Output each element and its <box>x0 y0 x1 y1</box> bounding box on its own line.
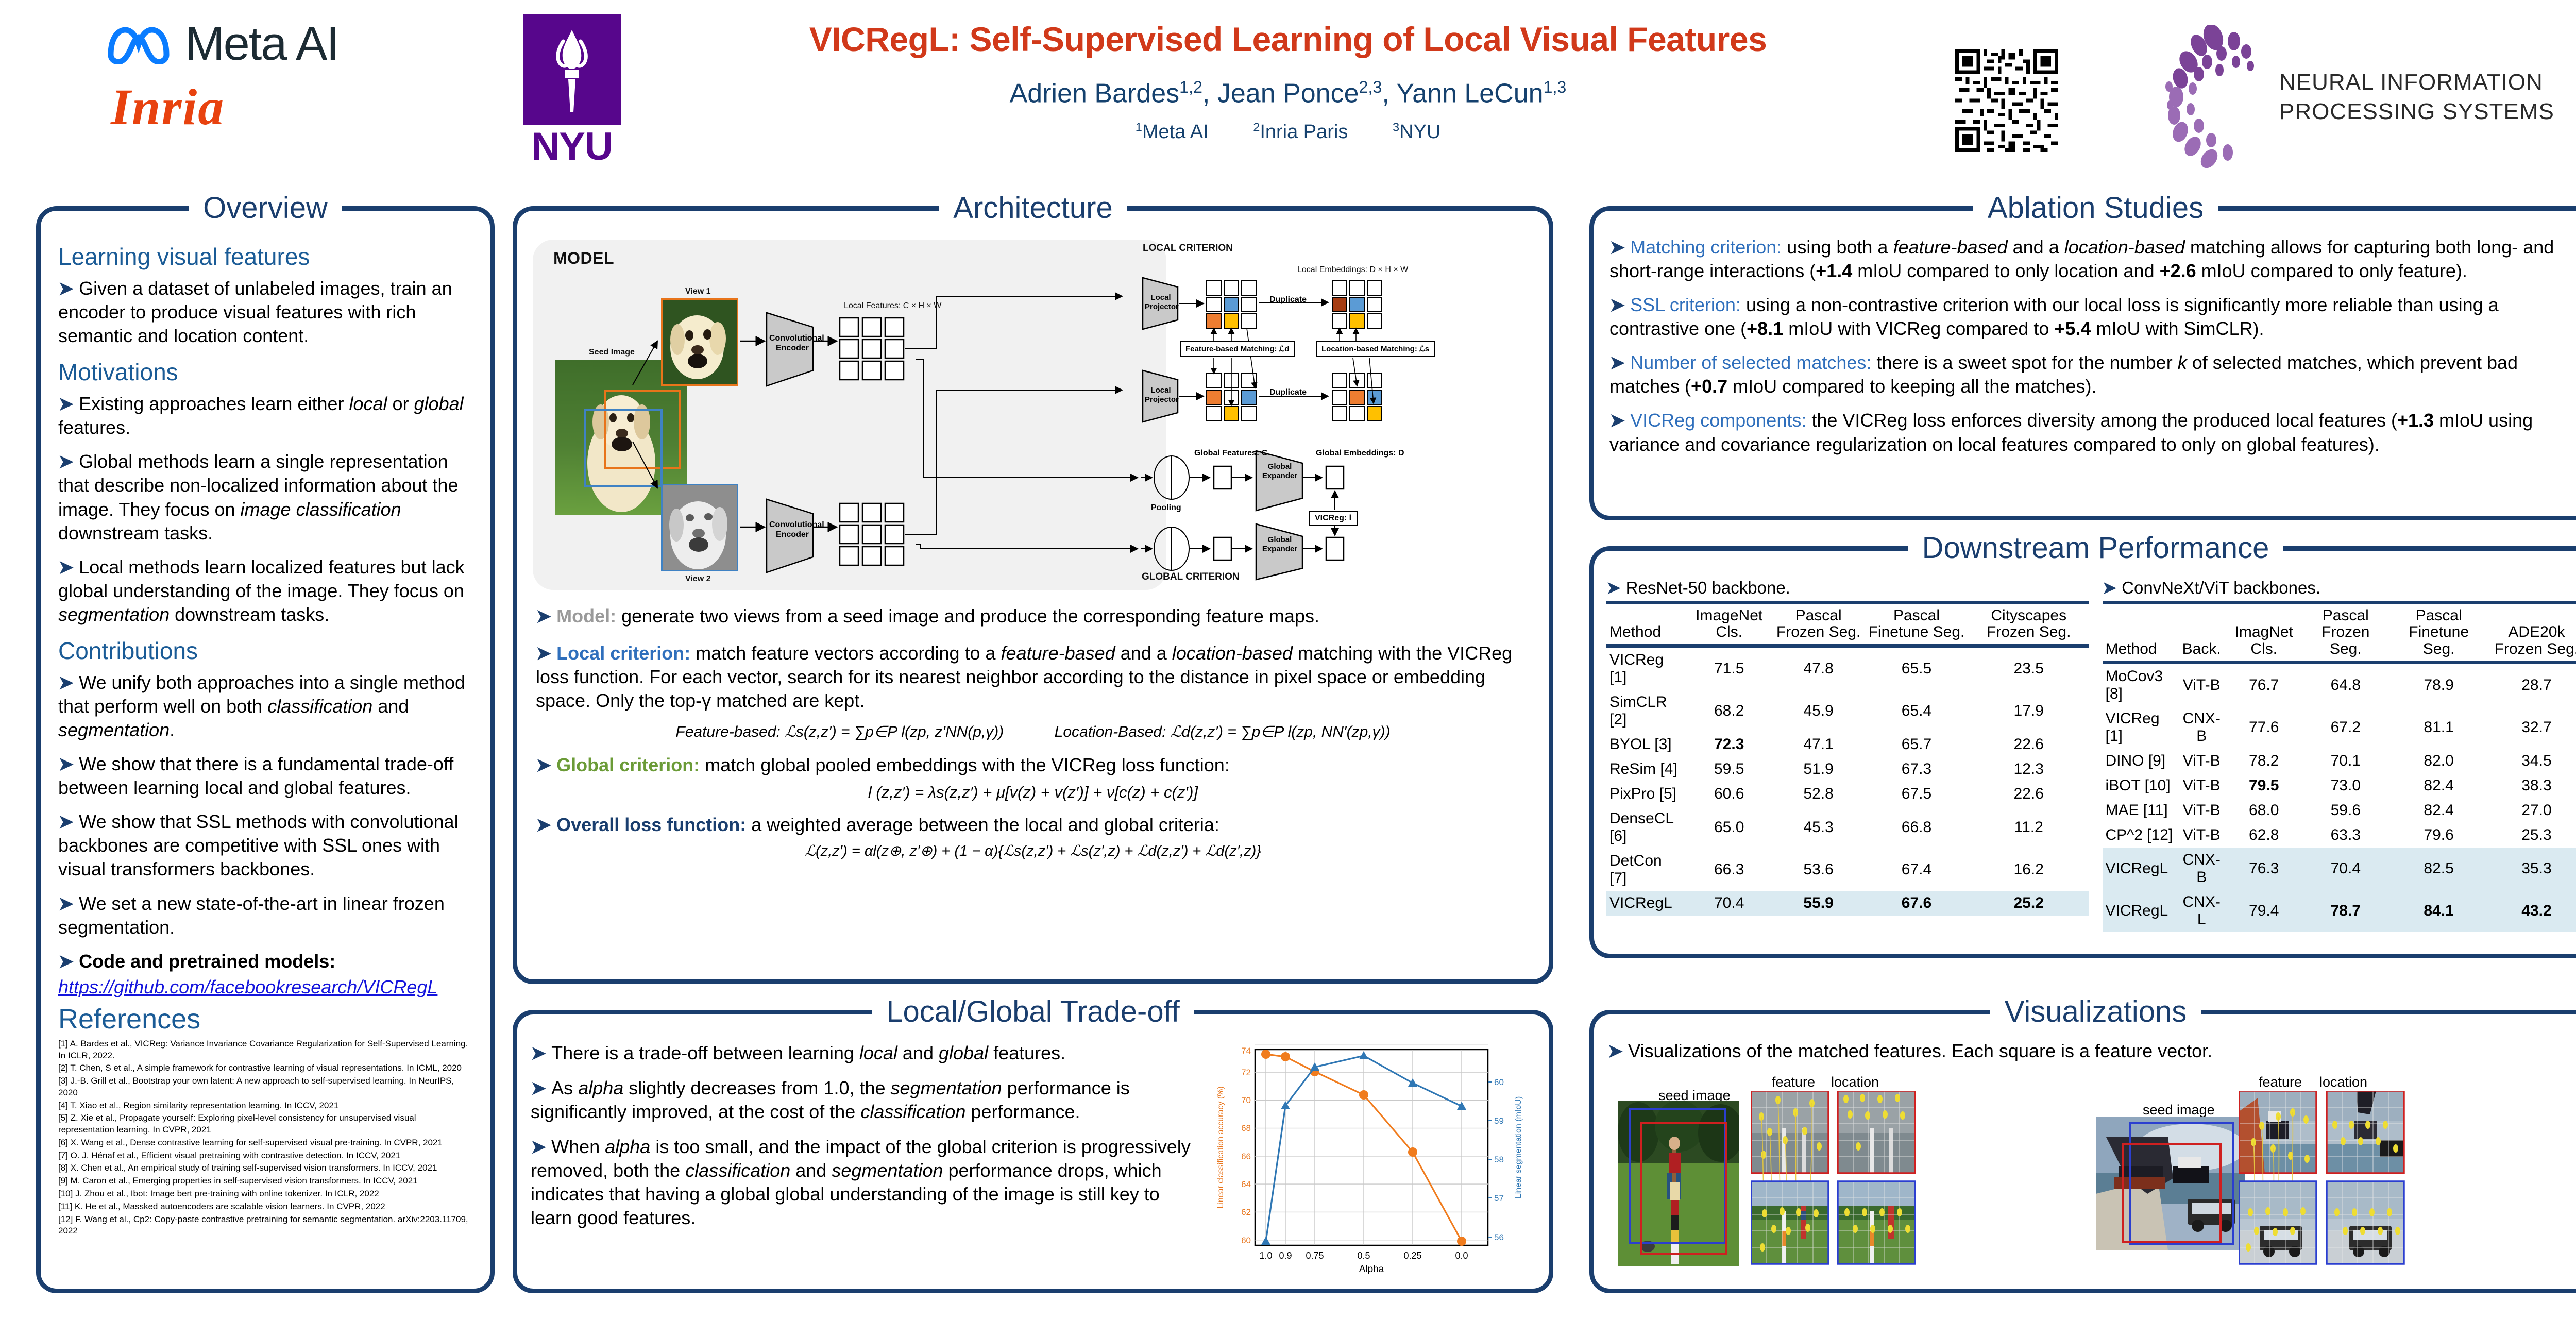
meta-infinity-icon <box>106 24 172 64</box>
svg-text:1.0: 1.0 <box>1259 1250 1272 1261</box>
cell-method: MoCov3 [8] <box>2103 663 2178 707</box>
cell-value: 25.2 <box>1969 891 2089 916</box>
architecture-bullets: ➤Model: generate two views from a seed i… <box>524 596 1541 860</box>
cell-method: VICRegL <box>2103 890 2178 932</box>
table-row: DenseCL [6] 65.0 45.3 66.8 11.2 <box>1606 806 2089 849</box>
tradeoff-chart: 60 62 64 66 68 70 72 74 Linear classific… <box>1206 1041 1535 1283</box>
bullet-arrow-icon: ➤ <box>58 753 74 774</box>
col-header: Pascal Finetune Seg. <box>2389 603 2488 663</box>
bullet-arrow-icon: ➤ <box>531 1136 546 1157</box>
cell-method: DenseCL [6] <box>1606 806 1686 849</box>
meta-ai-logo: Meta AI <box>106 15 466 72</box>
cell-backbone: CNX-B <box>2177 848 2226 890</box>
cell-value: 12.3 <box>1969 757 2089 782</box>
svg-text:62: 62 <box>1241 1207 1251 1217</box>
overview-text-contribution-3: ➤We show that SSL methods with convoluti… <box>58 810 472 881</box>
reference-item: [7] O. J. Hénaf et al., Efficient visual… <box>58 1150 472 1162</box>
cell-value: 70.4 <box>2302 848 2389 890</box>
cell-value: 70.4 <box>1686 891 1772 916</box>
cell-value: 22.6 <box>1969 782 2089 806</box>
diagram-encoder-label-1: Convolutional Encoder <box>769 333 816 353</box>
neurips-line-1: NEURAL INFORMATION <box>2279 67 2554 97</box>
alpha-tradeoff-chart: 60 62 64 66 68 70 72 74 Linear classific… <box>1206 1041 1535 1283</box>
table-row: ReSim [4] 59.5 51.9 67.3 12.3 <box>1606 757 2089 782</box>
cell-value: 79.6 <box>2389 823 2488 848</box>
reference-item: [12] F. Wang et al., Cp2: Copy-paste con… <box>58 1214 472 1238</box>
cell-value: 59.5 <box>1686 757 1772 782</box>
col-header: Pascal Finetune Seg. <box>1865 603 1969 646</box>
chart-y2label: Linear segmentation (mIoU) <box>1514 1096 1523 1198</box>
panel-architecture: Architecture MODEL Seed Image <box>513 206 1553 984</box>
affiliation-3: 3NYU <box>1393 121 1440 143</box>
table-row: BYOL [3] 72.3 47.1 65.7 22.6 <box>1606 732 2089 757</box>
cell-backbone: CNX-L <box>2177 890 2226 932</box>
viz2-feature-location-grids <box>2239 1091 2414 1266</box>
table-row: iBOT [10] ViT-B 79.5 73.0 82.4 38.3 <box>2103 773 2576 798</box>
bullet-arrow-icon: ➤ <box>536 754 551 775</box>
cell-backbone: ViT-B <box>2177 773 2226 798</box>
equation-location-based: Location-Based: ℒd(z,z′) = ∑p∈P l(zp, NN… <box>1055 723 1391 740</box>
cell-method: PixPro [5] <box>1606 782 1686 806</box>
cell-backbone: ViT-B <box>2177 798 2226 823</box>
neurips-logo: NEURAL INFORMATION PROCESSING SYSTEMS <box>2154 20 2576 174</box>
table-row: MAE [11] ViT-B 68.0 59.6 82.4 27.0 <box>2103 798 2576 823</box>
cell-value: 68.0 <box>2226 798 2302 823</box>
col-header: ImagNet Cls. <box>2226 603 2302 663</box>
cell-value: 27.0 <box>2488 798 2576 823</box>
cell-method: VICReg [1] <box>2103 706 2178 749</box>
cell-method: BYOL [3] <box>1606 732 1686 757</box>
col-header: Back. <box>2177 603 2226 663</box>
bullet-arrow-icon: ➤ <box>1609 352 1625 373</box>
diagram-vicreg-box: VICReg: l <box>1309 511 1358 526</box>
architecture-diagram: MODEL Seed Image <box>524 235 1541 596</box>
cell-value: 45.9 <box>1772 690 1865 732</box>
cell-backbone: ViT-B <box>2177 823 2226 848</box>
neurips-line-2: PROCESSING SYSTEMS <box>2279 97 2554 126</box>
visualization-group-2: seed image feature location <box>2089 1076 2552 1272</box>
ablation-bullet-matches: ➤Number of selected matches: there is a … <box>1609 351 2576 398</box>
poster-header: Meta AI Inria NYU VICRegL: Self-Supervis… <box>0 0 2576 191</box>
cell-value: 63.3 <box>2302 823 2389 848</box>
svg-text:70: 70 <box>1241 1095 1251 1105</box>
neurips-swirl-icon <box>2154 25 2267 169</box>
tradeoff-content: ➤There is a trade-off between learning l… <box>517 1014 1549 1289</box>
cell-method: VICReg [1] <box>1606 646 1686 690</box>
convnext-table-block: ➤ConvNeXt/ViT backbones. Method Back. Im… <box>2103 578 2576 949</box>
diagram-local-criterion-label: LOCAL CRITERION <box>1143 243 1233 254</box>
viz2-seed-label: seed image <box>2143 1102 2215 1118</box>
overview-text-motivation-3: ➤Local methods learn localized features … <box>58 555 472 627</box>
visualizations-caption: ➤Visualizations of the matched features.… <box>1607 1039 2576 1063</box>
inria-logo: Inria <box>111 77 440 144</box>
overview-heading-motivations: Motivations <box>58 358 472 386</box>
cell-value: 77.6 <box>2226 706 2302 749</box>
nyu-torch-box <box>523 14 621 125</box>
cell-value: 67.2 <box>2302 706 2389 749</box>
nyu-wordmark: NYU <box>507 127 636 166</box>
bullet-arrow-icon: ➤ <box>1609 410 1625 431</box>
overview-text-contribution-1: ➤We unify both approaches into a single … <box>58 671 472 742</box>
svg-text:0.9: 0.9 <box>1279 1250 1292 1261</box>
bullet-arrow-icon: ➤ <box>531 1077 546 1098</box>
cell-value: 73.0 <box>2302 773 2389 798</box>
svg-text:0.0: 0.0 <box>1455 1250 1468 1261</box>
poster-root: Meta AI Inria NYU VICRegL: Self-Supervis… <box>0 0 2576 1319</box>
resnet50-performance-table: Method ImageNet Cls. Pascal Frozen Seg. … <box>1606 601 2089 916</box>
cell-value: 16.2 <box>1969 849 2089 891</box>
bullet-arrow-icon: ➤ <box>58 278 74 299</box>
cell-value: 11.2 <box>1969 806 2089 849</box>
overview-text-learning: ➤Given a dataset of unlabeled images, tr… <box>58 277 472 348</box>
bullet-arrow-icon: ➤ <box>58 672 74 693</box>
svg-text:0.25: 0.25 <box>1403 1250 1421 1261</box>
cell-value: 62.8 <box>2226 823 2302 848</box>
cell-value: 82.4 <box>2389 798 2488 823</box>
cell-value: 71.5 <box>1686 646 1772 690</box>
cell-value: 67.3 <box>1865 757 1969 782</box>
viz1-seed-photo <box>1618 1101 1739 1266</box>
overview-code-label: ➤Code and pretrained models: <box>58 950 472 973</box>
arch-equation-vicreg: l (z,z′) = λs(z,z′) + μ[v(z) + v(z′)] + … <box>536 783 1530 802</box>
svg-text:66: 66 <box>1241 1152 1251 1161</box>
cell-value: 84.1 <box>2389 890 2488 932</box>
cell-value: 79.5 <box>2226 773 2302 798</box>
cell-value: 65.4 <box>1865 690 1969 732</box>
svg-text:56: 56 <box>1494 1232 1504 1242</box>
overview-heading-contributions: Contributions <box>58 637 472 665</box>
cell-value: 81.1 <box>2389 706 2488 749</box>
bullet-arrow-icon: ➤ <box>536 605 551 627</box>
cell-value: 64.8 <box>2302 663 2389 707</box>
svg-text:57: 57 <box>1494 1193 1504 1203</box>
overview-content: Learning visual features ➤Given a datase… <box>41 211 490 1289</box>
diagram-global-features-label: Global Features: C <box>1194 449 1267 458</box>
chart-ylabel: Linear classification accuracy (%) <box>1216 1086 1225 1208</box>
arch-equation-overall: ℒ(z,z′) = αl(z⊕, z′⊕) + (1 − α){ℒs(z,z′)… <box>536 842 1530 860</box>
authors-line: Adrien Bardes1,2, Jean Ponce2,3, Yann Le… <box>680 78 1896 109</box>
table-row: VICReg [1] 71.5 47.8 65.5 23.5 <box>1606 646 2089 690</box>
title-block: VICRegL: Self-Supervised Learning of Loc… <box>680 21 1896 143</box>
reference-item: [3] J.-B. Grill et al., Bootstrap your o… <box>58 1075 472 1099</box>
cell-value: 68.2 <box>1686 690 1772 732</box>
cell-method: SimCLR [2] <box>1606 690 1686 732</box>
svg-text:68: 68 <box>1241 1123 1251 1133</box>
tradeoff-bullets: ➤There is a trade-off between learning l… <box>531 1041 1200 1283</box>
cell-value: 32.7 <box>2488 706 2576 749</box>
cell-value: 47.8 <box>1772 646 1865 690</box>
viz2-seed-photo <box>2096 1117 2245 1250</box>
col-header: Pascal Frozen Seg. <box>2302 603 2389 663</box>
svg-text:0.5: 0.5 <box>1357 1250 1370 1261</box>
table-row: VICReg [1] CNX-B 77.6 67.2 81.1 32.7 <box>2103 706 2576 749</box>
architecture-content: MODEL Seed Image <box>517 211 1549 979</box>
ablation-bullet-ssl: ➤SSL criterion: using a non-contrastive … <box>1609 293 2576 341</box>
viz1-feature-label: feature <box>1772 1074 1815 1090</box>
cell-method: CP^2 [12] <box>2103 823 2178 848</box>
cell-value: 23.5 <box>1969 646 2089 690</box>
svg-text:64: 64 <box>1241 1179 1251 1189</box>
cell-value: 76.3 <box>2226 848 2302 890</box>
bullet-arrow-icon: ➤ <box>1607 1040 1623 1061</box>
table-row: DetCon [7] 66.3 53.6 67.4 16.2 <box>1606 849 2089 891</box>
arch-bullet-local: ➤Local criterion: match feature vectors … <box>536 641 1530 713</box>
cell-value: 65.0 <box>1686 806 1772 849</box>
cell-method: VICRegL <box>2103 848 2178 890</box>
convnext-vit-performance-table: Method Back. ImagNet Cls. Pascal Frozen … <box>2103 601 2576 932</box>
meta-ai-wordmark: Meta AI <box>185 20 338 67</box>
bullet-arrow-icon: ➤ <box>58 393 74 414</box>
cell-backbone: CNX-B <box>2177 706 2226 749</box>
cell-backbone: ViT-B <box>2177 749 2226 773</box>
svg-text:59: 59 <box>1494 1116 1504 1126</box>
arch-bullet-overall: ➤Overall loss function: a weighted avera… <box>536 813 1530 837</box>
cell-value: 34.5 <box>2488 749 2576 773</box>
visualization-group-1: seed image feature location <box>1615 1076 2078 1272</box>
ablation-bullet-matching: ➤Matching criterion: using both a featur… <box>1609 235 2576 283</box>
viz1-location-label: location <box>1831 1074 1879 1090</box>
overview-text-contribution-2: ➤We show that there is a fundamental tra… <box>58 752 472 800</box>
panel-downstream: Downstream Performance ➤ResNet-50 backbo… <box>1589 546 2576 958</box>
nyu-logo: NYU <box>507 14 636 169</box>
viz1-feature-location-grids <box>1751 1091 1921 1266</box>
diagram-encoder-label-2: Convolutional Encoder <box>769 520 816 539</box>
diagram-pooling-label: Pooling <box>1151 503 1181 513</box>
resnet-table-caption: ➤ResNet-50 backbone. <box>1606 578 2089 598</box>
ablation-bullet-components: ➤VICReg components: the VICReg loss enfo… <box>1609 409 2576 456</box>
bullet-arrow-icon: ➤ <box>1606 578 1621 597</box>
equation-feature-based: Feature-based: ℒs(z,z′) = ∑p∈P l(zp, z′N… <box>675 723 1004 740</box>
cell-value: 72.3 <box>1686 732 1772 757</box>
table-row: DINO [9] ViT-B 78.2 70.1 82.0 34.5 <box>2103 749 2576 773</box>
reference-item: [2] T. Chen, S et al., A simple framewor… <box>58 1062 472 1074</box>
bullet-arrow-icon: ➤ <box>1609 236 1625 258</box>
bullet-arrow-icon: ➤ <box>2103 578 2117 597</box>
table-row: MoCov3 [8] ViT-B 76.7 64.8 78.9 28.7 <box>2103 663 2576 707</box>
bullet-arrow-icon: ➤ <box>58 451 74 472</box>
tradeoff-bullet-2: ➤As alpha slightly decreases from 1.0, t… <box>531 1076 1195 1124</box>
svg-text:0.75: 0.75 <box>1306 1250 1324 1261</box>
references-heading: References <box>58 1003 472 1035</box>
diagram-duplicate-label-2: Duplicate <box>1269 388 1307 397</box>
ablation-content: ➤Matching criterion: using both a featur… <box>1594 211 2576 516</box>
reference-item: [8] X. Chen et al., An empirical study o… <box>58 1162 472 1174</box>
affiliations-line: 1Meta AI 2Inria Paris 3NYU <box>680 120 1896 143</box>
diagram-global-expander-label-1: Global Expander <box>1258 462 1301 481</box>
col-header: Pascal Frozen Seg. <box>1772 603 1865 646</box>
affiliation-2: 2Inria Paris <box>1253 121 1348 143</box>
cell-value: 78.7 <box>2302 890 2389 932</box>
cell-value: 78.2 <box>2226 749 2302 773</box>
table-row-highlighted: VICRegL CNX-B 76.3 70.4 82.5 35.3 <box>2103 848 2576 890</box>
svg-text:58: 58 <box>1494 1155 1504 1164</box>
bullet-arrow-icon: ➤ <box>58 893 74 914</box>
cell-method: VICRegL <box>1606 891 1686 916</box>
cell-value: 78.9 <box>2389 663 2488 707</box>
cell-value: 60.6 <box>1686 782 1772 806</box>
diagram-local-projector-label-1: Local Projector <box>1145 293 1177 312</box>
col-header: Method <box>1606 603 1686 646</box>
affiliation-1: 1Meta AI <box>1136 121 1209 143</box>
cell-method: DetCon [7] <box>1606 849 1686 891</box>
qr-code[interactable] <box>1955 49 2058 152</box>
bullet-arrow-icon: ➤ <box>58 951 74 972</box>
panel-visualizations: Visualizations ➤Visualizations of the ma… <box>1589 1010 2576 1293</box>
torch-icon <box>546 26 598 119</box>
panel-ablation: Ablation Studies ➤Matching criterion: us… <box>1589 206 2576 520</box>
reference-item: [1] A. Bardes et al., VICReg: Variance I… <box>58 1038 472 1062</box>
diagram-local-embeddings-label: Local Embeddings: D × H × W <box>1297 265 1408 275</box>
cell-value: 70.1 <box>2302 749 2389 773</box>
cell-value: 43.2 <box>2488 890 2576 932</box>
cell-method: MAE [11] <box>2103 798 2178 823</box>
references-list: [1] A. Bardes et al., VICReg: Variance I… <box>58 1038 472 1237</box>
panel-overview: Overview Learning visual features ➤Given… <box>36 206 495 1293</box>
col-header: Cityscapes Frozen Seg. <box>1969 603 2089 646</box>
cell-value: 59.6 <box>2302 798 2389 823</box>
viz2-location-label: location <box>2319 1074 2367 1090</box>
neurips-wordmark: NEURAL INFORMATION PROCESSING SYSTEMS <box>2279 67 2554 126</box>
col-header: Method <box>2103 603 2178 663</box>
cell-value: 67.4 <box>1865 849 1969 891</box>
cell-value: 67.5 <box>1865 782 1969 806</box>
downstream-content: ➤ResNet-50 backbone. Method ImageNet Cls… <box>1594 551 2576 954</box>
cell-value: 55.9 <box>1772 891 1865 916</box>
cell-method: DINO [9] <box>2103 749 2178 773</box>
chart-xlabel: Alpha <box>1359 1264 1384 1275</box>
diagram-local-projector-label-2: Local Projector <box>1145 386 1177 404</box>
svg-text:60: 60 <box>1494 1077 1504 1087</box>
overview-text-motivation-2: ➤Global methods learn a single represent… <box>58 450 472 545</box>
reference-item: [11] K. He et al., Massked autoencoders … <box>58 1201 472 1213</box>
bullet-arrow-icon: ➤ <box>1609 294 1625 315</box>
diagram-feature-matching-box: Feature-based Matching: ℒd <box>1180 341 1295 357</box>
arch-bullet-global: ➤Global criterion: match global pooled e… <box>536 753 1530 777</box>
cell-backbone: ViT-B <box>2177 663 2226 707</box>
bullet-arrow-icon: ➤ <box>58 811 74 832</box>
reference-item: [9] M. Caron et al., Emerging properties… <box>58 1175 472 1187</box>
cell-value: 47.1 <box>1772 732 1865 757</box>
diagram-local-features-label: Local Features: C × H × W <box>844 301 941 311</box>
cell-value: 65.7 <box>1865 732 1969 757</box>
arch-bullet-model: ➤Model: generate two views from a seed i… <box>536 604 1530 628</box>
cell-method: ReSim [4] <box>1606 757 1686 782</box>
table-row: SimCLR [2] 68.2 45.9 65.4 17.9 <box>1606 690 2089 732</box>
reference-item: [5] Z. Xie et al., Propagate yourself: E… <box>58 1112 472 1136</box>
bullet-arrow-icon: ➤ <box>58 556 74 578</box>
tradeoff-bullet-3: ➤When alpha is too small, and the impact… <box>531 1135 1195 1230</box>
table-row: CP^2 [12] ViT-B 62.8 63.3 79.6 25.3 <box>2103 823 2576 848</box>
cell-value: 17.9 <box>1969 690 2089 732</box>
diagram-connectors <box>524 235 1549 596</box>
table-row-highlighted: VICRegL 70.4 55.9 67.6 25.2 <box>1606 891 2089 916</box>
tradeoff-bullet-1: ➤There is a trade-off between learning l… <box>531 1041 1195 1065</box>
resnet-table-block: ➤ResNet-50 backbone. Method ImageNet Cls… <box>1606 578 2089 949</box>
cell-value: 28.7 <box>2488 663 2576 707</box>
cell-value: 82.0 <box>2389 749 2488 773</box>
viz2-feature-label: feature <box>2259 1074 2302 1090</box>
panel-tradeoff: Local/Global Trade-off ➤There is a trade… <box>513 1010 1553 1293</box>
cell-value: 82.5 <box>2389 848 2488 890</box>
table-row-highlighted: VICRegL CNX-L 79.4 78.7 84.1 43.2 <box>2103 890 2576 932</box>
diagram-global-criterion-label: GLOBAL CRITERION <box>1142 571 1240 583</box>
svg-text:72: 72 <box>1241 1068 1251 1077</box>
cell-value: 22.6 <box>1969 732 2089 757</box>
convnext-table-caption: ➤ConvNeXt/ViT backbones. <box>2103 578 2576 598</box>
overview-heading-learning: Learning visual features <box>58 243 472 270</box>
cell-value: 51.9 <box>1772 757 1865 782</box>
cell-value: 35.3 <box>2488 848 2576 890</box>
cell-value: 66.3 <box>1686 849 1772 891</box>
cell-value: 67.6 <box>1865 891 1969 916</box>
reference-item: [4] T. Xiao et al., Region similarity re… <box>58 1100 472 1112</box>
overview-text-motivation-1: ➤Existing approaches learn either local … <box>58 392 472 439</box>
reference-item: [10] J. Zhou et al., Ibot: Image bert pr… <box>58 1188 472 1200</box>
cell-value: 76.7 <box>2226 663 2302 707</box>
cell-value: 66.8 <box>1865 806 1969 849</box>
bullet-arrow-icon: ➤ <box>536 642 551 664</box>
diagram-duplicate-label-1: Duplicate <box>1269 295 1307 305</box>
page-title: VICRegL: Self-Supervised Learning of Loc… <box>680 21 1896 58</box>
col-header: ADE20k Frozen Seg. <box>2488 603 2576 663</box>
diagram-global-embeddings-label: Global Embeddings: D <box>1316 449 1404 458</box>
cell-value: 25.3 <box>2488 823 2576 848</box>
svg-text:60: 60 <box>1241 1236 1251 1245</box>
col-header: ImageNet Cls. <box>1686 603 1772 646</box>
cell-value: 38.3 <box>2488 773 2576 798</box>
visualizations-content: ➤Visualizations of the matched features.… <box>1594 1014 2576 1289</box>
cell-value: 79.4 <box>2226 890 2302 932</box>
cell-method: iBOT [10] <box>2103 773 2178 798</box>
bullet-arrow-icon: ➤ <box>531 1042 546 1063</box>
diagram-location-matching-box: Location-based Matching: ℒs <box>1316 341 1435 357</box>
bullet-arrow-icon: ➤ <box>536 814 551 835</box>
cell-value: 52.8 <box>1772 782 1865 806</box>
arch-equation-matching: Feature-based: ℒs(z,z′) = ∑p∈P l(zp, z′N… <box>536 723 1530 741</box>
cell-value: 53.6 <box>1772 849 1865 891</box>
cell-value: 45.3 <box>1772 806 1865 849</box>
diagram-global-expander-label-2: Global Expander <box>1258 535 1301 554</box>
cell-value: 65.5 <box>1865 646 1969 690</box>
overview-text-contribution-4: ➤We set a new state-of-the-art in linear… <box>58 892 472 939</box>
reference-item: [6] X. Wang et al., Dense contrastive le… <box>58 1137 472 1149</box>
svg-text:74: 74 <box>1241 1046 1251 1056</box>
code-repo-link[interactable]: https://github.com/facebookresearch/VICR… <box>58 976 437 997</box>
cell-value: 82.4 <box>2389 773 2488 798</box>
table-row: PixPro [5] 60.6 52.8 67.5 22.6 <box>1606 782 2089 806</box>
inria-wordmark: Inria <box>111 78 225 136</box>
